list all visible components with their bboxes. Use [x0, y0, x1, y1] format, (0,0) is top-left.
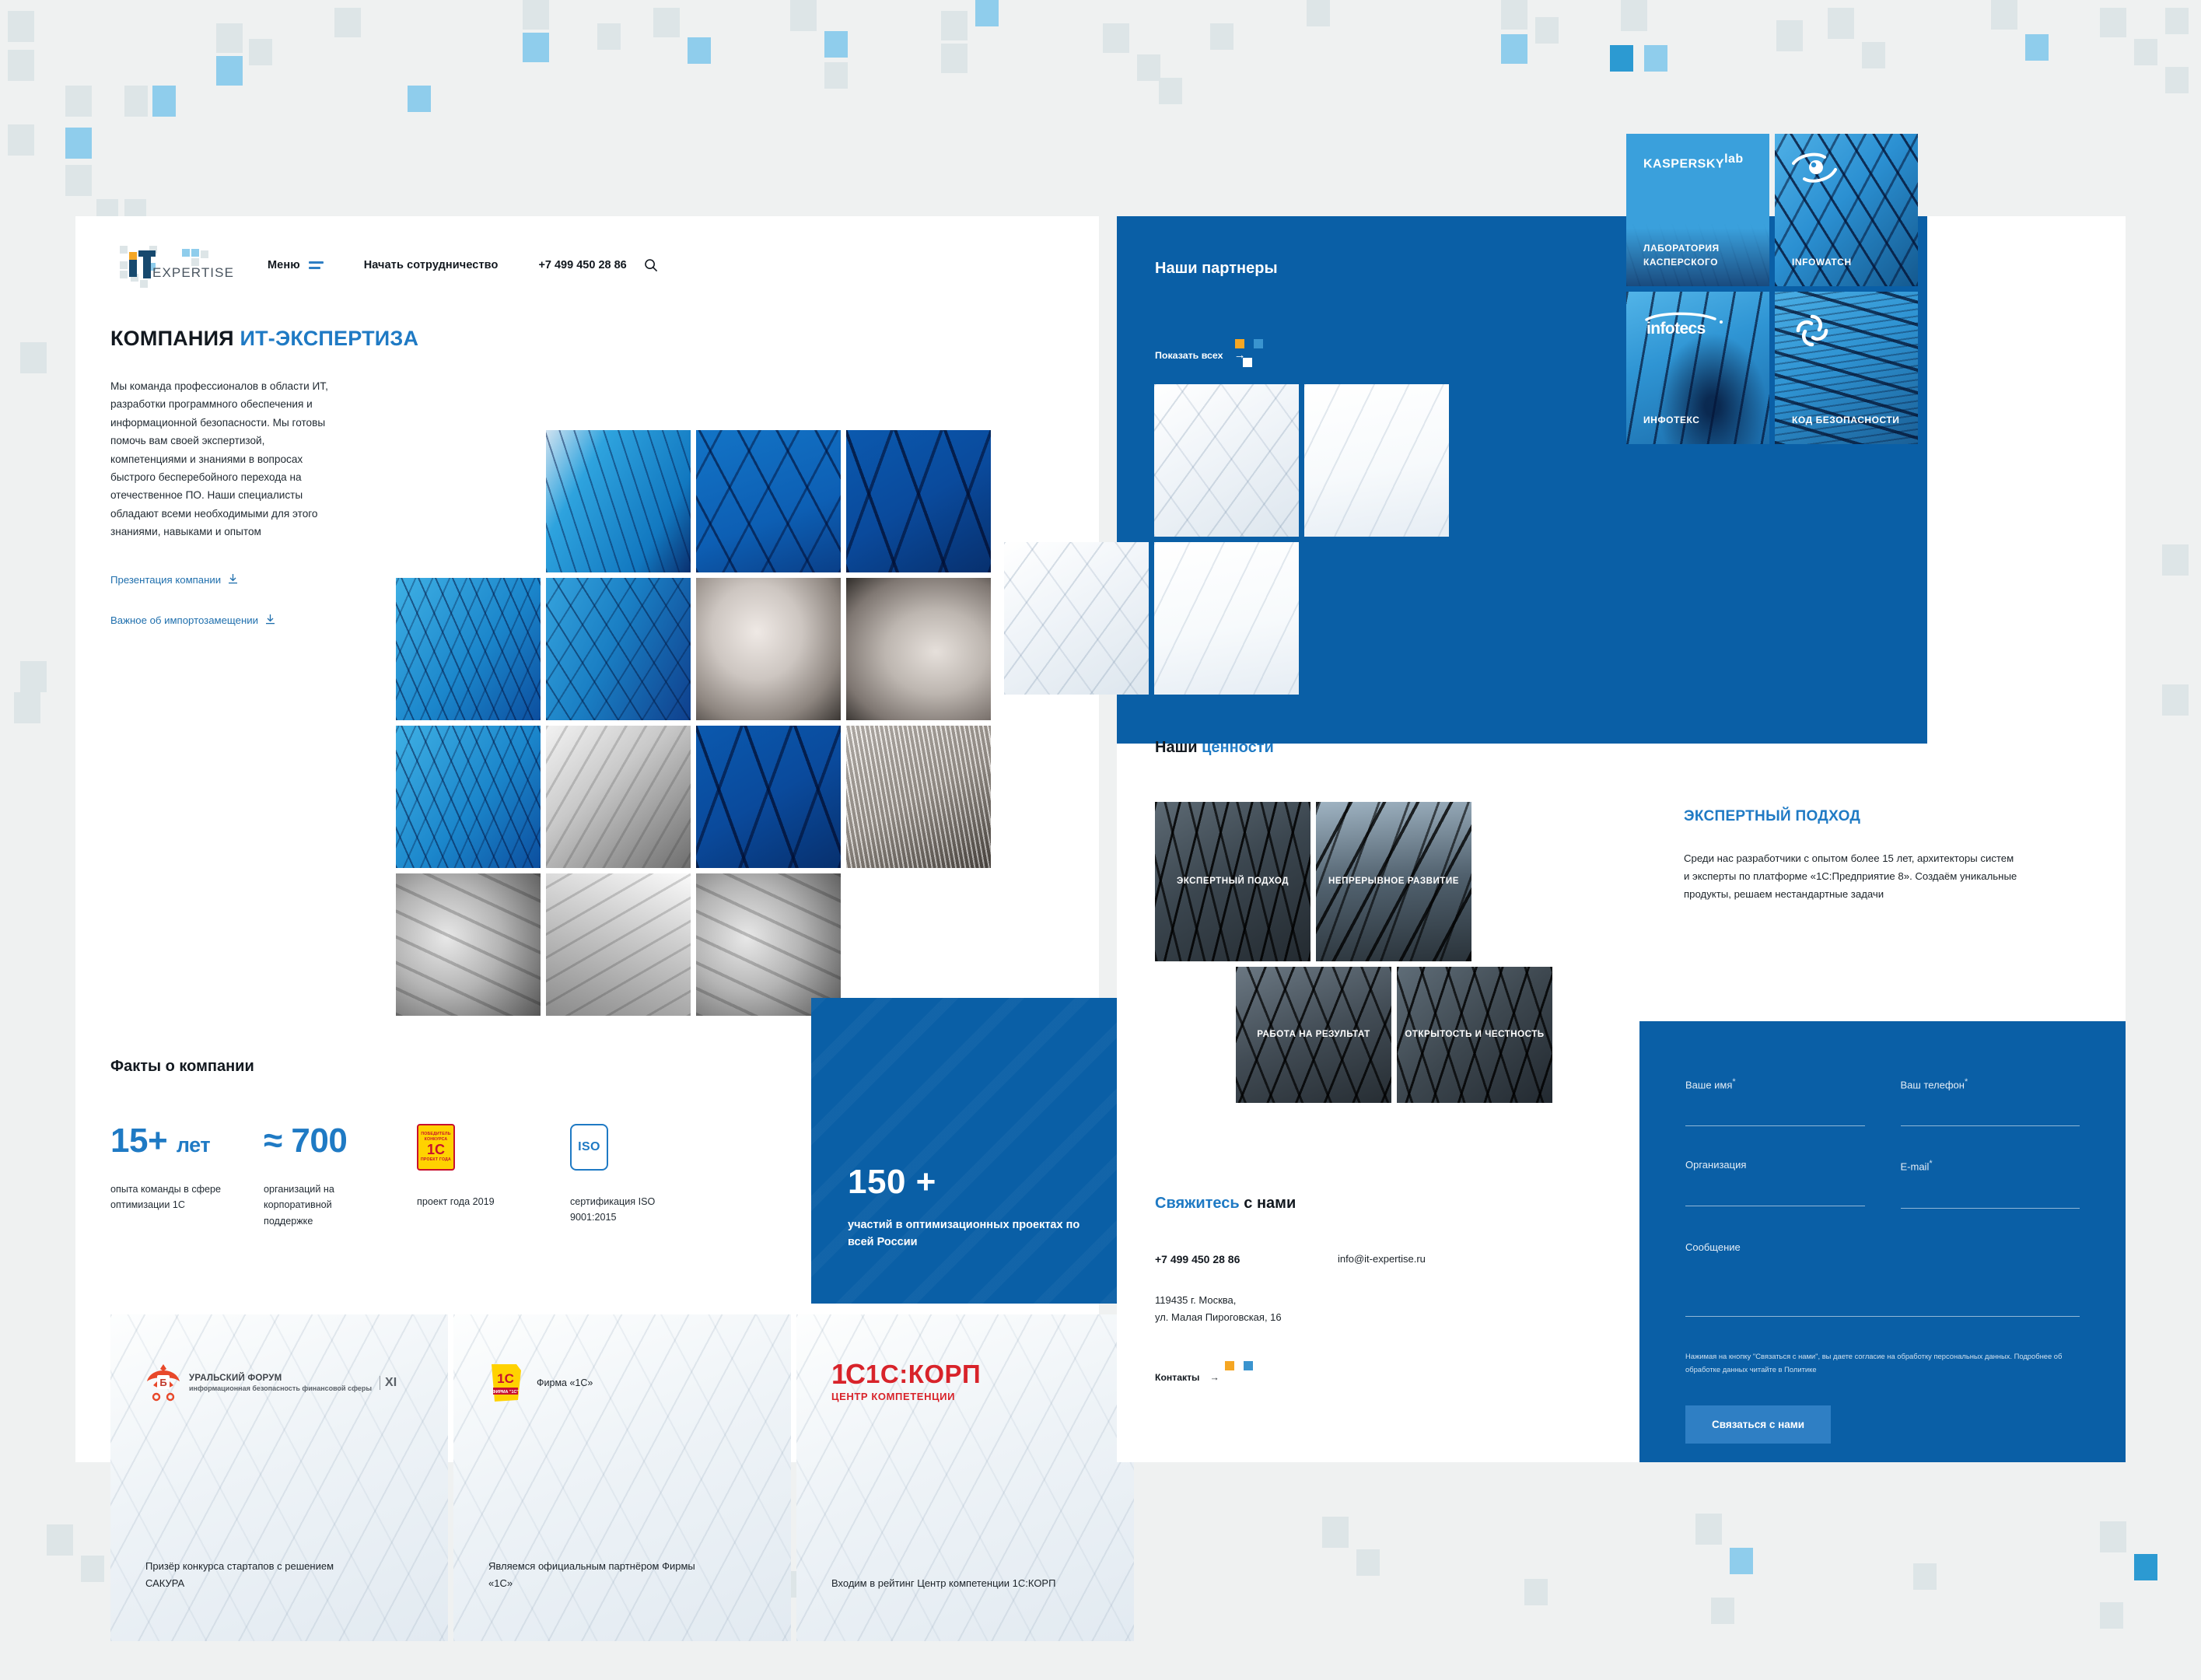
svg-text:ФИРМА "1С": ФИРМА "1С" — [492, 1390, 519, 1395]
svg-text:1C: 1C — [497, 1371, 514, 1386]
svg-text:EXPERTISE: EXPERTISE — [152, 265, 234, 280]
field-name-label: Ваше имя* — [1685, 1077, 1865, 1090]
email-input[interactable] — [1901, 1191, 2080, 1208]
fact-value: ≈ 700 — [264, 1124, 417, 1158]
values-title-plain: Наши — [1155, 739, 1202, 756]
ural-forum-sub: информационная безопасность финансовой с… — [189, 1384, 372, 1392]
awards-row: Б УРАЛЬСКИЙ ФОРУМ информационная безопас… — [110, 1314, 1134, 1641]
field-email: E-mail* — [1901, 1159, 2080, 1208]
contacts-title: Свяжитесь с нами — [1155, 1195, 1559, 1213]
fact-item: 15+ лет опыта команды в сфере оптимизаци… — [110, 1124, 264, 1229]
fact-caption: сертификация ISO 9001:2015 — [570, 1194, 687, 1226]
infowatch-eye-icon — [1792, 152, 1837, 189]
badge-bottom-text: ПРОЕКТ ГОДА — [421, 1157, 451, 1163]
field-phone: Ваш телефон* — [1901, 1077, 2080, 1126]
decorative-squares — [1225, 1361, 1256, 1384]
fact-unit: лет — [177, 1133, 210, 1157]
arrow-right-icon: → — [1209, 1372, 1219, 1383]
mosaic-tile-portrait — [846, 578, 991, 720]
value-card-label: ЭКСПЕРТНЫЙ ПОДХОД — [1177, 874, 1289, 889]
value-detail: ЭКСПЕРТНЫЙ ПОДХОД Среди нас разработчики… — [1684, 808, 2018, 904]
partner-tile-code-of-security[interactable]: КОД БЕЗОПАСНОСТИ — [1775, 292, 1918, 444]
field-name: Ваше имя* — [1685, 1077, 1865, 1126]
contact-email[interactable]: info@it-expertise.ru — [1338, 1253, 1426, 1265]
award-card[interactable]: 1C ФИРМА "1С" Фирма «1С» Являемся официа… — [453, 1314, 791, 1641]
facts-title-plain: о компании — [161, 1058, 254, 1075]
badge-top-text: ПОБЕДИТЕЛЬ КОНКУРСА — [418, 1132, 453, 1142]
highlight-caption: участий в оптимизационных проектах по вс… — [848, 1217, 1081, 1251]
partners-section: Наши партнеры Показать всех → KASPERSKYl… — [1117, 216, 1927, 744]
fact-item: ISO сертификация ISO 9001:2015 — [570, 1124, 723, 1229]
fact-item: ≈ 700 организаций на корпоративной подде… — [264, 1124, 417, 1229]
value-card-label: РАБОТА НА РЕЗУЛЬТАТ — [1257, 1027, 1370, 1042]
value-card[interactable]: ОТКРЫТОСТЬ И ЧЕСТНОСТЬ — [1397, 967, 1552, 1103]
mosaic-tile — [696, 726, 841, 868]
download-icon — [265, 614, 275, 627]
kaspersky-lab-logo: KASPERSKYlab — [1643, 152, 1744, 171]
field-phone-label: Ваш телефон* — [1901, 1077, 2080, 1090]
hero-image-mosaic — [396, 430, 1096, 1016]
korp-subtitle: ЦЕНТР КОМПЕТЕНЦИИ — [831, 1391, 981, 1402]
download-icon — [228, 573, 238, 586]
svg-text:Б: Б — [159, 1377, 166, 1388]
firma-1c-logo: 1C ФИРМА "1С" Фирма «1С» — [488, 1363, 593, 1403]
partner-tile-kaspersky[interactable]: KASPERSKYlab ЛАБОРАТОРИЯ КАСПЕРСКОГО — [1626, 134, 1769, 286]
mosaic-tile-portrait — [696, 578, 841, 720]
mosaic-tile — [696, 430, 841, 572]
nav-menu-toggle[interactable]: Меню — [268, 258, 324, 271]
ural-forum-title: УРАЛЬСКИЙ ФОРУМ — [189, 1374, 372, 1384]
mosaic-tile — [546, 578, 691, 720]
contact-phone[interactable]: +7 499 450 28 86 — [1155, 1253, 1338, 1265]
nav-start-cooperation[interactable]: Начать сотрудничество — [364, 259, 499, 271]
mosaic-tile — [696, 873, 841, 1016]
value-card[interactable]: ЭКСПЕРТНЫЙ ПОДХОД — [1155, 802, 1310, 961]
contact-address: 119435 г. Москва, ул. Малая Пироговская,… — [1155, 1292, 1559, 1327]
hero-title-accent: ИТ-ЭКСПЕРТИЗА — [240, 327, 419, 350]
contacts-title-accent: Свяжитесь — [1155, 1195, 1240, 1212]
kaspersky-sup: lab — [1724, 152, 1744, 166]
award-card[interactable]: Б УРАЛЬСКИЙ ФОРУМ информационная безопас… — [110, 1314, 448, 1641]
field-message-label: Сообщение — [1685, 1241, 2080, 1253]
facts-title: Факты о компании — [110, 1058, 748, 1076]
hero-title-plain: КОМПАНИЯ — [110, 327, 240, 350]
contacts-link[interactable]: Контакты → — [1155, 1372, 1559, 1383]
contacts-link-label: Контакты — [1155, 1372, 1199, 1383]
kaspersky-wordmark: KASPERSKY — [1643, 157, 1724, 170]
organization-input[interactable] — [1685, 1188, 1865, 1206]
mosaic-tile — [846, 726, 991, 868]
award-caption: Являемся официальным партнёром Фирмы «1С… — [488, 1558, 714, 1594]
company-page-right: Наши партнеры Показать всех → KASPERSKYl… — [1117, 216, 2126, 1462]
highlight-number: 150 + — [848, 1165, 1132, 1199]
badge-iso-text: ISO — [578, 1140, 600, 1154]
partner-label: ИНФОТЕКС — [1643, 414, 1699, 427]
1c-korp-logo: 1C 1С:КОРП ЦЕНТР КОМПЕТЕНЦИИ — [831, 1363, 981, 1402]
badge-mid-text: 1C — [427, 1143, 445, 1157]
contact-form: Ваше имя* Ваш телефон* Организация E-mai… — [1639, 1021, 2126, 1462]
fact-caption: проект года 2019 — [417, 1194, 534, 1209]
values-title: Наши ценности — [1155, 739, 2126, 757]
1c-project-of-year-badge: ПОБЕДИТЕЛЬ КОНКУРСА 1C ПРОЕКТ ГОДА — [417, 1124, 455, 1171]
ural-forum-roman: XI — [380, 1376, 397, 1390]
main-nav: Меню Начать сотрудничество — [268, 258, 498, 271]
show-all-partners-button[interactable]: Показать всех → — [1155, 348, 1246, 362]
hero-paragraph: Мы команда профессионалов в области ИТ, … — [110, 377, 344, 541]
value-card-label: ОТКРЫТОСТЬ И ЧЕСТНОСТЬ — [1405, 1027, 1544, 1042]
submit-button[interactable]: Связаться с нами — [1685, 1405, 1831, 1444]
nav-cta-label: Начать сотрудничество — [364, 259, 499, 271]
partner-tile-infotecs[interactable]: infotecs ИНФОТЕКС — [1626, 292, 1769, 444]
page-title: КОМПАНИЯ ИТ-ЭКСПЕРТИЗА — [110, 327, 371, 351]
fact-item: ПОБЕДИТЕЛЬ КОНКУРСА 1C ПРОЕКТ ГОДА проек… — [417, 1124, 570, 1229]
ural-forum-logo: Б УРАЛЬСКИЙ ФОРУМ информационная безопас… — [145, 1363, 397, 1403]
facts-section: Факты о компании 15+ лет опыта команды в… — [110, 1058, 748, 1229]
korp-word: 1С:КОРП — [866, 1363, 981, 1386]
korp-mark: 1C — [831, 1363, 864, 1387]
field-message: Сообщение — [1685, 1241, 2080, 1317]
field-email-label: E-mail* — [1901, 1159, 2080, 1172]
award-card[interactable]: 1C 1С:КОРП ЦЕНТР КОМПЕТЕНЦИИ Входим в ре… — [796, 1314, 1134, 1641]
code-of-security-icon — [1792, 310, 1832, 355]
phone-input[interactable] — [1901, 1108, 2080, 1125]
fact-number: 15+ — [110, 1122, 167, 1160]
partner-label: INFOWATCH — [1792, 256, 1852, 269]
partners-mosaic-tile — [1304, 384, 1449, 537]
partner-tile-infowatch[interactable]: INFOWATCH — [1775, 134, 1918, 286]
header-phone[interactable]: +7 499 450 28 86 — [538, 259, 626, 271]
mosaic-tile — [396, 726, 541, 868]
value-card[interactable]: НЕПРЕРЫВНОЕ РАЗВИТИЕ — [1316, 802, 1471, 961]
site-header: EXPERTISE Меню Начать сотрудничество +7 … — [75, 216, 1099, 291]
values-title-accent: ценности — [1202, 739, 1274, 756]
search-icon[interactable] — [644, 258, 658, 272]
value-card[interactable]: РАБОТА НА РЕЗУЛЬТАТ — [1236, 967, 1391, 1103]
value-detail-body: Среди нас разработчики с опытом более 15… — [1684, 850, 2018, 904]
mosaic-tile — [546, 726, 691, 868]
partner-label: ЛАБОРАТОРИЯ КАСПЕРСКОГО — [1643, 242, 1769, 269]
award-caption: Входим в рейтинг Центр компетенции 1С:КО… — [831, 1575, 1057, 1593]
field-organization-label: Организация — [1685, 1159, 1865, 1171]
link-import-substitution[interactable]: Важное об импортозамещении — [110, 614, 371, 627]
facts-title-accent: Факты — [110, 1058, 161, 1075]
hamburger-icon — [309, 258, 324, 271]
fact-value: 15+ лет — [110, 1124, 264, 1158]
partner-label: КОД БЕЗОПАСНОСТИ — [1792, 414, 1900, 427]
link-company-presentation[interactable]: Презентация компании — [110, 573, 371, 586]
consent-text: Нажимая на кнопку "Связаться с нами", вы… — [1685, 1349, 2080, 1377]
name-input[interactable] — [1685, 1108, 1865, 1125]
mosaic-tile — [546, 873, 691, 1016]
iso-certification-badge: ISO — [570, 1124, 608, 1171]
mosaic-tile — [396, 578, 541, 720]
link-import-label: Важное об импортозамещении — [110, 614, 258, 626]
fact-caption: опыта команды в сфере оптимизации 1С — [110, 1181, 227, 1213]
address-line-1: 119435 г. Москва, — [1155, 1292, 1559, 1309]
nav-menu-label: Меню — [268, 259, 300, 271]
contacts-title-plain: с нами — [1240, 1195, 1296, 1212]
company-page-left: EXPERTISE Меню Начать сотрудничество +7 … — [75, 216, 1099, 1462]
infotecs-logo: infotecs — [1643, 310, 1729, 341]
partner-tiles: KASPERSKYlab ЛАБОРАТОРИЯ КАСПЕРСКОГО INF… — [1626, 134, 1918, 444]
message-input[interactable] — [1685, 1299, 2080, 1316]
highlight-projects-box: 150 + участий в оптимизационных проектах… — [811, 998, 1132, 1304]
field-organization: Организация — [1685, 1159, 1865, 1208]
link-presentation-label: Презентация компании — [110, 574, 221, 586]
show-all-label: Показать всех — [1155, 350, 1223, 361]
decorative-squares — [1235, 339, 1275, 375]
mosaic-tile — [846, 430, 991, 572]
value-detail-heading: ЭКСПЕРТНЫЙ ПОДХОД — [1684, 808, 2018, 825]
svg-text:infotecs: infotecs — [1646, 320, 1706, 337]
firma-1c-label: Фирма «1С» — [537, 1377, 593, 1388]
address-line-2: ул. Малая Пироговская, 16 — [1155, 1309, 1559, 1326]
fact-caption: организаций на корпоративной поддержке — [264, 1181, 380, 1229]
partners-mosaic-tile — [1154, 384, 1299, 537]
contacts-section: Свяжитесь с нами +7 499 450 28 86 info@i… — [1155, 1195, 1559, 1383]
partners-mosaic-tile — [1004, 542, 1149, 695]
partners-mosaic-tile — [1154, 542, 1299, 695]
mosaic-tile — [396, 873, 541, 1016]
value-card-label: НЕПРЕРЫВНОЕ РАЗВИТИЕ — [1328, 874, 1459, 889]
it-expertise-logo[interactable]: EXPERTISE — [110, 241, 235, 289]
award-caption: Призёр конкурса стартапов с решением САК… — [145, 1558, 371, 1594]
mosaic-tile — [546, 430, 691, 572]
